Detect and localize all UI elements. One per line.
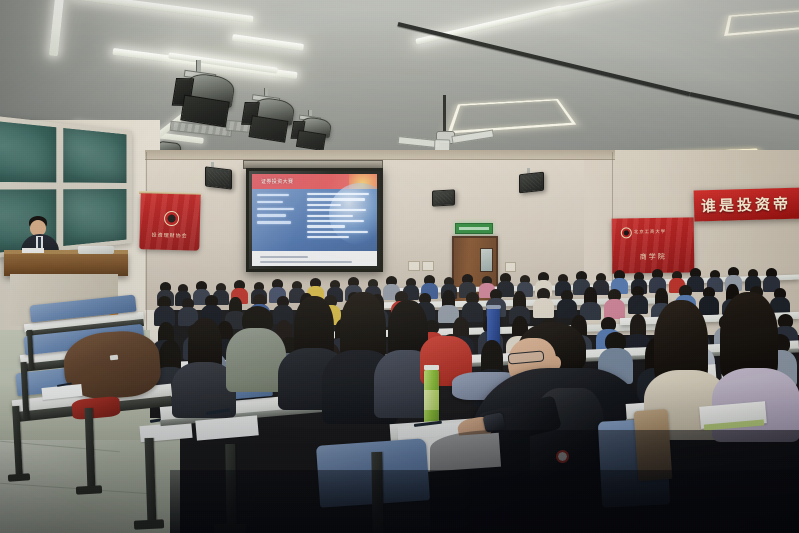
projected-slide: 证券投资大赛 — [252, 174, 377, 266]
coat-label-tag — [110, 355, 118, 361]
wall-speaker — [205, 166, 232, 189]
wall-speaker — [432, 189, 455, 206]
ceiling-fan — [443, 95, 446, 133]
under-desk-shadow — [430, 430, 799, 533]
slide-body — [252, 189, 377, 251]
bottle-label — [424, 390, 439, 410]
lecture-hall-photo: 证券投资大赛 — [0, 0, 799, 533]
green-chalkboard — [0, 113, 132, 261]
podium — [4, 252, 128, 276]
university-emblem — [621, 227, 632, 238]
podium-papers — [22, 248, 44, 253]
worksheet-paper — [195, 415, 259, 440]
desk-foot — [76, 485, 102, 494]
student-torso — [226, 328, 286, 392]
exit-sign — [455, 223, 493, 234]
wall-cornice — [145, 150, 615, 160]
desk-foot — [134, 519, 164, 530]
stage-spotlight — [168, 60, 238, 135]
slogan-banner-text: 谁是投资帝 — [701, 193, 792, 217]
club-flag-banner: 投资理财协会 — [139, 193, 200, 251]
slide-right-column — [304, 189, 377, 251]
slide-header-text: 证券投资大赛 — [261, 178, 293, 185]
wall-speaker — [519, 172, 544, 194]
university-name-text: 北京工商大学 — [634, 229, 666, 235]
projection-screen: 证券投资大赛 — [246, 168, 383, 272]
slide-left-column — [252, 189, 304, 251]
podium-laptop — [78, 246, 114, 254]
slogan-banner: 谁是投资帝 — [694, 187, 799, 221]
